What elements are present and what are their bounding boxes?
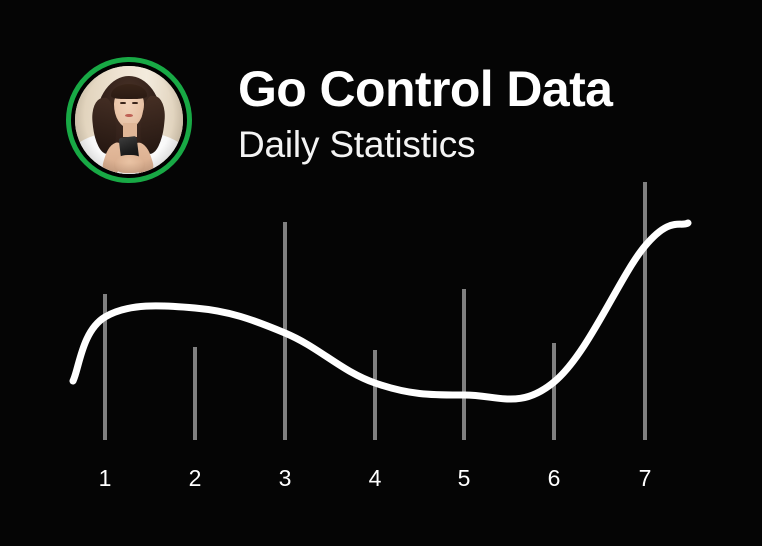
- tick-mark: [373, 350, 377, 440]
- tick-mark: [462, 289, 466, 440]
- tick-mark: [643, 182, 647, 440]
- data-line-group: [73, 223, 688, 399]
- x-axis-label: 6: [534, 464, 574, 492]
- x-axis-label: 2: [175, 464, 215, 492]
- x-axis-label: 4: [355, 464, 395, 492]
- x-axis-label: 5: [444, 464, 484, 492]
- tick-mark-group: [103, 182, 647, 440]
- tick-mark: [552, 343, 556, 440]
- line-chart: 1234567: [0, 0, 762, 546]
- tick-mark: [193, 347, 197, 440]
- x-axis-label: 3: [265, 464, 305, 492]
- x-axis-label: 1: [85, 464, 125, 492]
- poster-canvas: Go Control Data Daily Statistics 1234567: [0, 0, 762, 546]
- data-line: [73, 223, 688, 399]
- x-axis-label: 7: [625, 464, 665, 492]
- x-axis-label-group: 1234567: [0, 464, 762, 498]
